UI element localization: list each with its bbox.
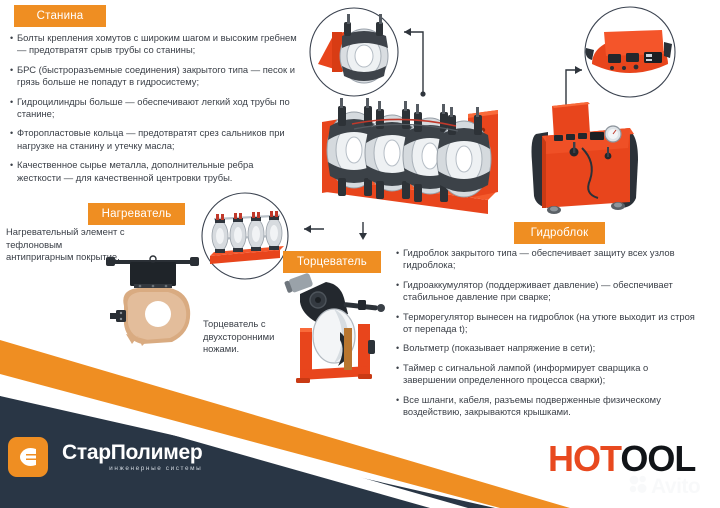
hydro-bullet-list: • Гидроблок закрытого типа — обеспечивае…	[396, 247, 696, 425]
list-item-text: Болты крепления хомутов с широким шагом …	[17, 32, 298, 57]
machine-detail-callout	[310, 8, 398, 96]
bullet-icon: •	[396, 311, 403, 336]
list-item: • Вольтметр (показывает напряжение в сет…	[396, 342, 696, 354]
bullet-icon: •	[10, 32, 17, 57]
section-tag-facer-label: Торцеватель	[297, 256, 367, 268]
product-wordmark-part-b: OOL	[620, 438, 695, 479]
section-tag-hydro-label: Гидроблок	[531, 227, 589, 239]
list-item: • Гидроаккумулятор (поддерживает давлени…	[396, 279, 696, 304]
avito-watermark: Avito	[628, 474, 700, 499]
list-item-text: Гидроцилиндры больше — обеспечивают легк…	[17, 96, 298, 121]
list-item-text: Терморегулятор вынесен на гидроблок (на …	[403, 311, 696, 336]
list-item: • Гидроблок закрытого типа — обеспечивае…	[396, 247, 696, 272]
frame-callout-arrow	[298, 222, 326, 236]
product-wordmark: HOTOOL	[548, 440, 695, 478]
infographic-page: Станина Нагреватель Торцеватель Гидробло…	[0, 0, 720, 508]
machine-body	[322, 98, 498, 214]
bullet-icon: •	[10, 127, 17, 152]
list-item: • Таймер с сигнальной лампой (информируе…	[396, 362, 696, 387]
machine-base-arrow	[356, 222, 370, 242]
bullet-icon: •	[396, 279, 403, 304]
list-item: • Гидроцилиндры больше — обеспечивают ле…	[10, 96, 298, 121]
list-item: • Фторопластовые кольца — предотвратят с…	[10, 127, 298, 152]
callout-arrow-up	[404, 32, 423, 94]
bullet-icon: •	[396, 342, 403, 354]
section-tag-stanina-label: Станина	[37, 10, 84, 22]
bullet-icon: •	[396, 362, 403, 387]
heater-description: Нагревательный элемент с тефлоновым анти…	[6, 226, 131, 264]
bullet-icon: •	[10, 64, 17, 89]
list-item: • БРС (быстроразъемные соединения) закры…	[10, 64, 298, 89]
section-tag-facer: Торцеватель	[283, 251, 381, 273]
brand-logo-mark	[8, 437, 48, 477]
section-tag-hydro: Гидроблок	[514, 222, 605, 244]
list-item-text: БРС (быстроразъемные соединения) закрыто…	[17, 64, 298, 89]
stanina-bullet-list: • Болты крепления хомутов с широким шаго…	[10, 32, 298, 191]
brand-tagline: инженерные системы	[62, 465, 202, 472]
list-item: • Качественное сырье металла, дополнител…	[10, 159, 298, 184]
list-item-text: Гидроблок закрытого типа — обеспечивает …	[403, 247, 696, 272]
list-item-text: Гидроаккумулятор (поддерживает давление)…	[403, 279, 696, 304]
avito-logo-icon	[628, 474, 648, 499]
bullet-icon: •	[10, 96, 17, 121]
hydraulic-unit-illustration	[512, 2, 718, 224]
list-item-text: Фторопластовые кольца — предотвратят сре…	[17, 127, 298, 152]
list-item-text: Вольтметр (показывает напряжение в сети)…	[403, 342, 696, 354]
list-item-text: Таймер с сигнальной лампой (информирует …	[403, 362, 696, 387]
bullet-icon: •	[10, 159, 17, 184]
euro-e-icon	[8, 437, 48, 477]
brand-name: СтарПолимер	[62, 442, 202, 464]
list-item: • Болты крепления хомутов с широким шаго…	[10, 32, 298, 57]
section-tag-heater: Нагреватель	[88, 203, 185, 225]
section-tag-stanina: Станина	[14, 5, 106, 27]
avito-watermark-text: Avito	[651, 476, 700, 497]
list-item-text: Все шланги, кабеля, разъемы подверженные…	[403, 394, 696, 419]
product-wordmark-part-a: HOT	[548, 438, 620, 479]
list-item: • Терморегулятор вынесен на гидроблок (н…	[396, 311, 696, 336]
brand-logo: СтарПолимер инженерные системы	[8, 437, 202, 477]
hydro-unit-body	[532, 102, 639, 214]
welding-machine-illustration	[292, 2, 520, 228]
bullet-icon: •	[396, 247, 403, 272]
brand-logo-text: СтарПолимер инженерные системы	[62, 442, 202, 472]
hydro-panel-callout	[585, 7, 675, 97]
facer-illustration	[282, 270, 394, 388]
section-tag-heater-label: Нагреватель	[102, 208, 172, 220]
list-item-text: Качественное сырье металла, дополнительн…	[17, 159, 298, 184]
facer-description: Торцеватель с двухсторонними ножами.	[203, 318, 298, 356]
list-item: • Все шланги, кабеля, разъемы подверженн…	[396, 394, 696, 419]
bullet-icon: •	[396, 394, 403, 419]
